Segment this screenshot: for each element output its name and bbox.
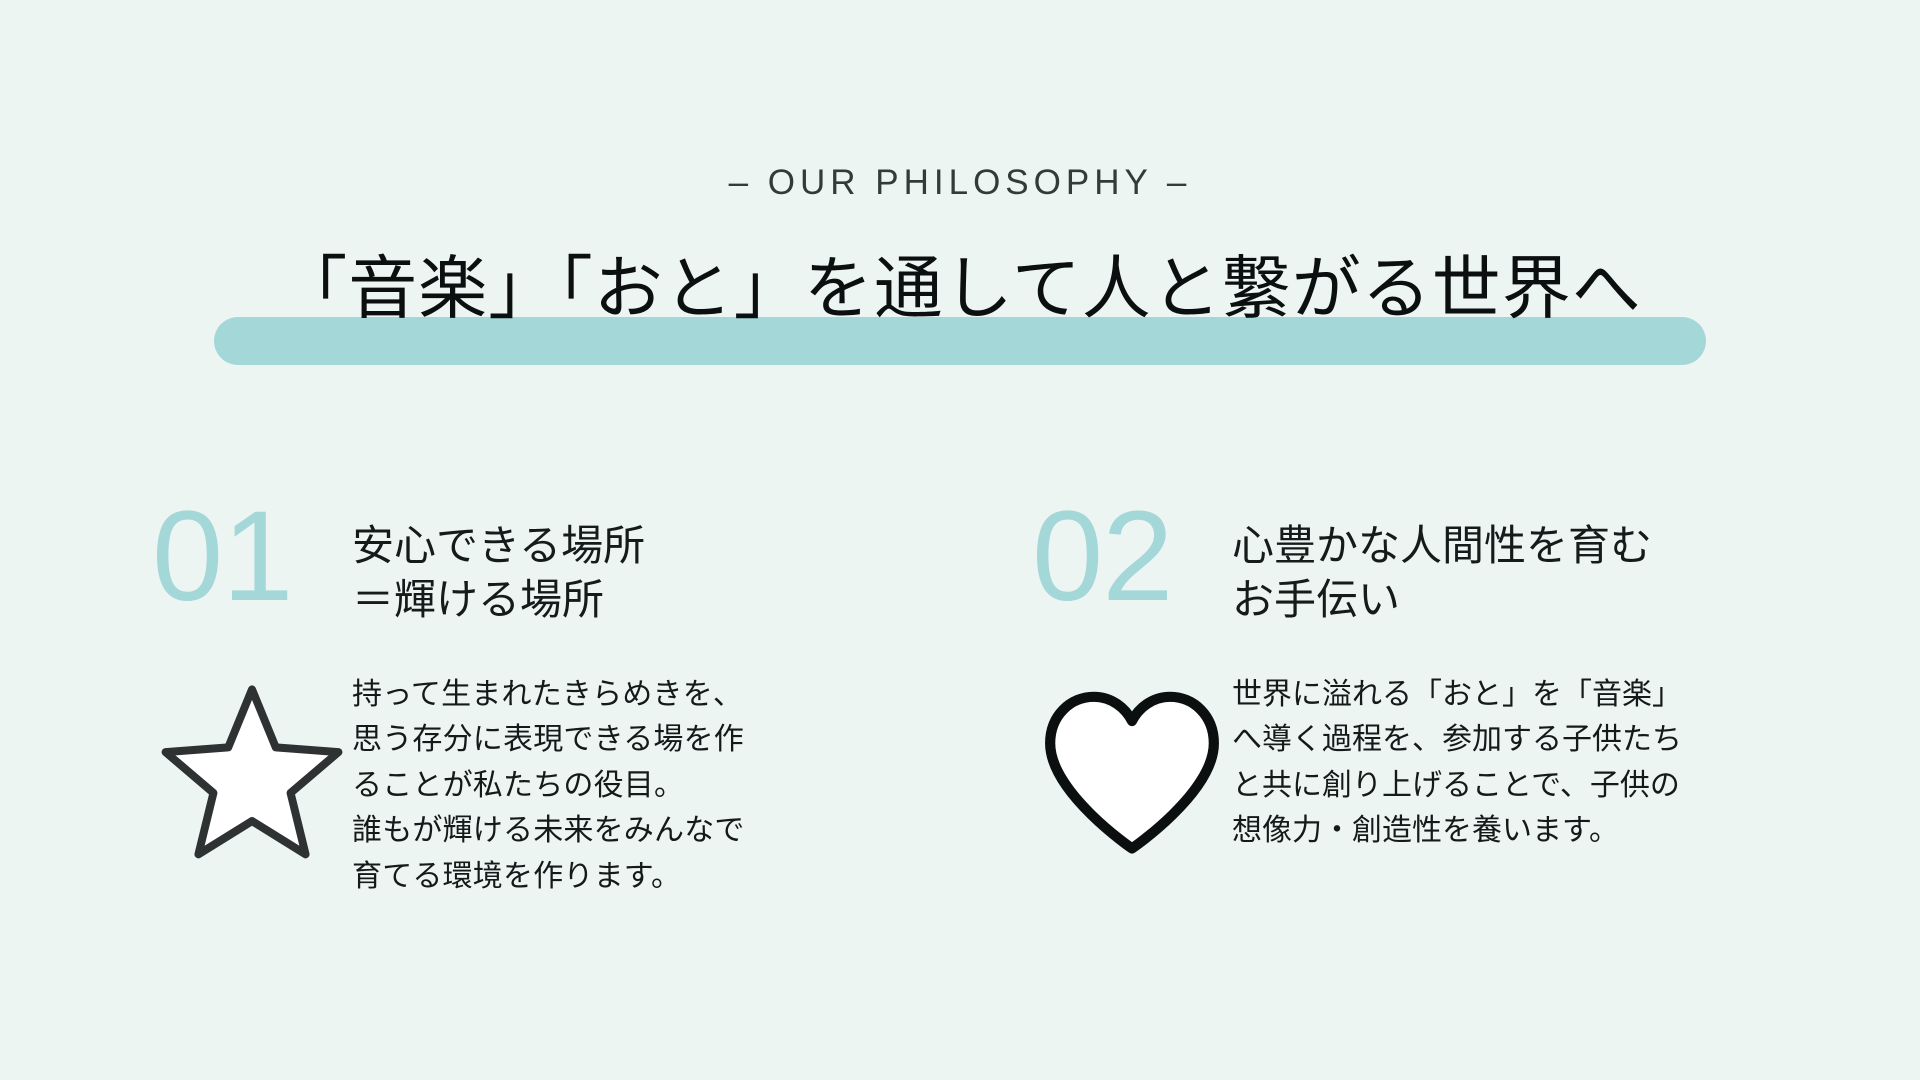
heart-icon	[1039, 688, 1225, 860]
item-02-body: 世界に溢れる「おと」を「音楽」 へ導く過程を、参加する子供たち と共に創り上げる…	[1032, 672, 1920, 860]
item-02-number: 02	[1032, 505, 1232, 610]
page-title: 「音楽」「おと」を通して人と繋がる世界へ	[278, 255, 1641, 324]
item-02-description: 世界に溢れる「おと」を「音楽」 へ導く過程を、参加する子供たち と共に創り上げる…	[1232, 672, 1682, 854]
section-eyebrow: – OUR PHILOSOPHY –	[0, 163, 1920, 203]
item-01-header: 01 安心できる場所 ＝輝ける場所	[152, 505, 960, 627]
headline-container: 「音楽」「おと」を通して人と繋がる世界へ	[0, 255, 1920, 375]
item-02-icon-slot	[1032, 672, 1232, 860]
item-01-number: 01	[152, 505, 352, 610]
item-02-title: 心豊かな人間性を育む お手伝い	[1232, 505, 1652, 627]
item-01-description: 持って生まれたきらめきを、 思う存分に表現できる場を作 ることが私たちの役目。 …	[352, 672, 745, 900]
philosophy-columns: 01 安心できる場所 ＝輝ける場所 持って生まれたきらめきを、 思う存分に表現で…	[0, 505, 1920, 899]
star-icon	[157, 678, 347, 868]
item-01-body: 持って生まれたきらめきを、 思う存分に表現できる場を作 ることが私たちの役目。 …	[152, 672, 960, 900]
item-01-title: 安心できる場所 ＝輝ける場所	[352, 505, 645, 627]
philosophy-item-02: 02 心豊かな人間性を育む お手伝い 世界に溢れる「おと」を「音楽」 へ導く過程…	[960, 505, 1920, 899]
philosophy-item-01: 01 安心できる場所 ＝輝ける場所 持って生まれたきらめきを、 思う存分に表現で…	[0, 505, 960, 899]
item-01-icon-slot	[152, 672, 352, 868]
philosophy-slide: – OUR PHILOSOPHY – 「音楽」「おと」を通して人と繋がる世界へ …	[0, 0, 1920, 1080]
item-02-header: 02 心豊かな人間性を育む お手伝い	[1032, 505, 1920, 627]
